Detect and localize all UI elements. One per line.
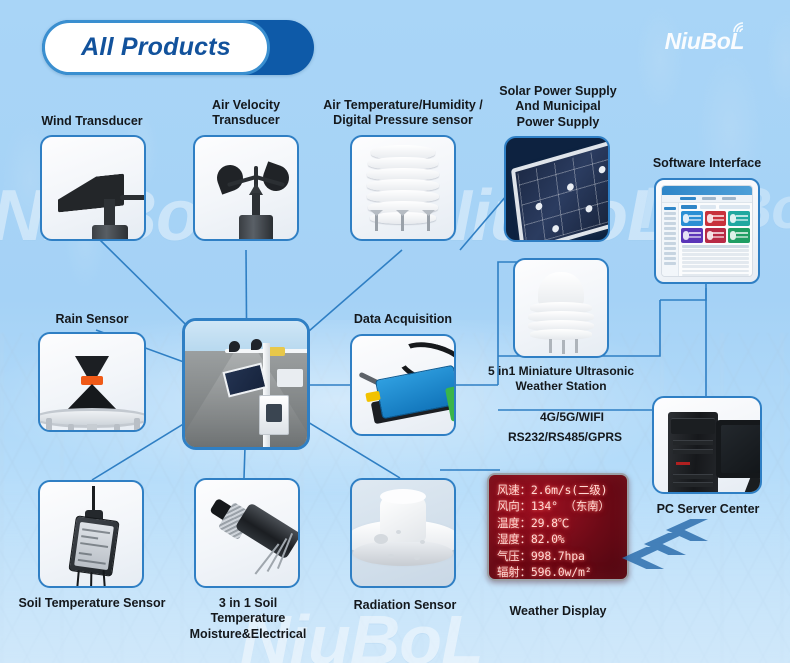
pyranometer-image	[352, 480, 454, 586]
rain-gauge-image	[40, 334, 144, 430]
label-line-2: Weather Station	[478, 379, 644, 394]
label-line-1: Air Temperature/Humidity /	[312, 98, 494, 113]
data-logger-image	[352, 336, 454, 434]
label-line-1: Air Velocity	[183, 98, 309, 113]
page-title: All Products	[81, 33, 231, 62]
card-weather-station-hero[interactable]	[182, 318, 310, 450]
label-air-velocity-transducer: Air Velocity Transducer	[183, 98, 309, 129]
label-rain-sensor: Rain Sensor	[18, 312, 166, 327]
label-line-1: Solar Power Supply	[488, 84, 628, 99]
label-wind-transducer: Wind Transducer	[18, 114, 166, 129]
poster-canvas: NiuBoL NiuBoL NiuBoL NiuBoL All Products	[0, 0, 790, 663]
dashboard-data-table	[681, 245, 750, 276]
label-line-2: Transducer	[183, 113, 309, 128]
chevron-decoration	[622, 519, 708, 575]
card-data-acquisition[interactable]	[350, 334, 456, 436]
all-products-badge-inner: All Products	[42, 20, 270, 75]
led-line-radiation: 辐射：596.0w/m²	[497, 564, 619, 580]
card-weather-display[interactable]: 风速：2.6m/s(二级) 风向：134° （东南） 温度：29.8℃ 湿度：8…	[487, 473, 629, 581]
label-wired-connectivity: RS232/RS485/GPRS	[488, 430, 642, 445]
card-air-temp-humidity[interactable]	[350, 135, 456, 241]
dashboard-titlebar	[662, 186, 752, 195]
label-pc-server-center: PC Server Center	[640, 502, 776, 517]
software-dashboard-image	[661, 185, 753, 277]
label-line-2: Moisture&Electrical	[182, 627, 314, 642]
wifi-signal-icon	[731, 19, 749, 35]
radiation-shield-image	[352, 137, 454, 239]
label-soil-temperature-sensor: Soil Temperature Sensor	[10, 596, 174, 611]
label-line-1: 5 in1 Miniature Ultrasonic	[478, 364, 644, 379]
led-line-pressure: 气压：998.7hpa	[497, 548, 619, 564]
label-line-1: 3 in 1 Soil Temperature	[182, 596, 314, 627]
led-line-temperature: 温度：29.8℃	[497, 515, 619, 531]
card-air-velocity-transducer[interactable]	[193, 135, 299, 241]
cup-anemometer-image	[195, 137, 297, 239]
soil-3in1-probe-image	[196, 480, 298, 586]
metric-tile	[681, 228, 703, 243]
card-pc-server-center[interactable]	[652, 396, 762, 494]
card-software-interface[interactable]	[654, 178, 760, 284]
chevron-icon	[622, 547, 664, 569]
metric-tile	[705, 211, 727, 226]
label-weather-display: Weather Display	[488, 604, 628, 619]
label-data-acquisition: Data Acquisition	[330, 312, 476, 327]
led-line-humidity: 湿度：82.0%	[497, 531, 619, 547]
label-line-3: Power Supply	[488, 115, 628, 130]
card-ultrasonic-station[interactable]	[513, 258, 609, 358]
soil-temperature-probe-image	[40, 482, 142, 586]
weather-station-photo	[185, 321, 307, 447]
ultrasonic-station-image	[515, 260, 607, 356]
wind-vane-image	[42, 137, 144, 239]
led-line-wind-direction: 风向：134° （东南）	[497, 498, 619, 514]
dashboard-metric-tiles	[681, 211, 750, 243]
label-soil-3in1-sensor: 3 in 1 Soil Temperature Moisture&Electri…	[182, 596, 314, 642]
card-radiation-sensor[interactable]	[350, 478, 456, 588]
dashboard-tabs	[681, 205, 750, 209]
card-wind-transducer[interactable]	[40, 135, 146, 241]
metric-tile	[728, 211, 750, 226]
metric-tile	[681, 211, 703, 226]
dashboard-sidebar	[662, 203, 679, 276]
dashboard-navbar	[662, 195, 752, 203]
label-wireless-connectivity: 4G/5G/WIFI	[502, 410, 642, 425]
led-line-wind-speed: 风速：2.6m/s(二级)	[497, 482, 619, 498]
metric-tile	[705, 228, 727, 243]
label-software-interface: Software Interface	[632, 156, 782, 171]
metric-tile	[728, 228, 750, 243]
label-line-2: And Municipal	[488, 99, 628, 114]
label-solar-power-supply: Solar Power Supply And Municipal Power S…	[488, 84, 628, 130]
label-air-temp-humidity: Air Temperature/Humidity / Digital Press…	[312, 98, 494, 129]
card-solar-power-supply[interactable]	[504, 136, 610, 242]
label-line-2: Digital Pressure sensor	[312, 113, 494, 128]
label-ultrasonic-station: 5 in1 Miniature Ultrasonic Weather Stati…	[478, 364, 644, 393]
card-soil-3in1-sensor[interactable]	[194, 478, 300, 588]
all-products-badge: All Products	[42, 20, 314, 75]
dashboard-footer	[662, 276, 752, 277]
pc-server-image	[654, 398, 760, 492]
brand-logo: NiuBoL	[665, 28, 744, 55]
label-radiation-sensor: Radiation Sensor	[338, 598, 472, 613]
card-rain-sensor[interactable]	[38, 332, 146, 432]
card-soil-temperature-sensor[interactable]	[38, 480, 144, 588]
solar-panel-image	[506, 138, 608, 240]
